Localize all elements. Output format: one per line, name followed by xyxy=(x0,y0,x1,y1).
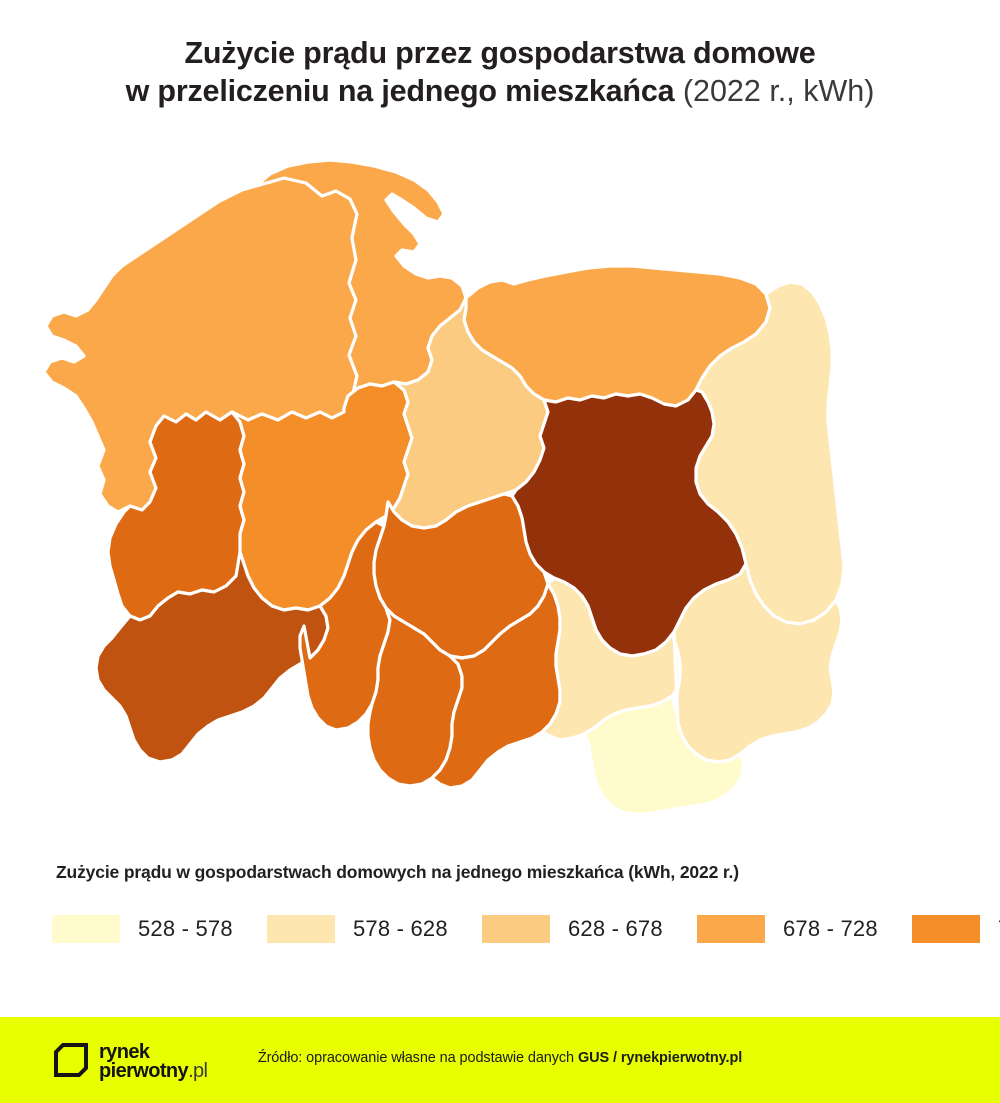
source-prefix-text: Źródło: opracowanie własne na podstawie … xyxy=(258,1050,578,1066)
legend-swatch-icon xyxy=(697,915,765,943)
legend-heading: Zużycie prądu w gospodarstwach domowych … xyxy=(56,862,1000,883)
page-title: Zużycie prądu przez gospodarstwa domowe … xyxy=(0,34,1000,110)
legend-item[interactable]: 628 - 678 xyxy=(482,911,697,947)
choropleth-map-poland xyxy=(0,150,1000,840)
legend-swatch-icon xyxy=(267,915,335,943)
legend-swatch-icon xyxy=(482,915,550,943)
legend-item[interactable]: 728 - 778 xyxy=(912,911,1000,947)
legend-items: 528 - 578 578 - 628 628 - 678 678 - 728 … xyxy=(52,911,942,947)
title-text-line1: Zużycie prądu przez gospodarstwa domowe xyxy=(184,36,815,70)
legend-item[interactable]: 528 - 578 xyxy=(52,911,267,947)
title-text-line2: w przeliczeniu na jednego mieszkańca xyxy=(126,74,675,108)
source-bold-text: GUS / rynekpierwotny.pl xyxy=(578,1050,742,1066)
title-line-1: Zużycie prądu przez gospodarstwa domowe xyxy=(0,34,1000,72)
footer-bar: rynek pierwotny.pl Źródło: opracowanie w… xyxy=(0,1017,1000,1103)
legend-item[interactable]: 578 - 628 xyxy=(267,911,482,947)
legend-item-label: 528 - 578 xyxy=(138,916,233,942)
legend-swatch-icon xyxy=(52,915,120,943)
legend-item-label: 578 - 628 xyxy=(353,916,448,942)
source-attribution: Źródło: opracowanie własne na podstawie … xyxy=(0,1050,1000,1066)
legend-item[interactable]: 678 - 728 xyxy=(697,911,912,947)
title-subtext-year-unit: (2022 r., kWh) xyxy=(674,74,874,108)
title-line-2: w przeliczeniu na jednego mieszkańca (20… xyxy=(0,72,1000,110)
legend-swatch-icon xyxy=(912,915,980,943)
poland-map-svg xyxy=(0,150,1000,840)
legend-item-label: 628 - 678 xyxy=(568,916,663,942)
legend-item-label: 678 - 728 xyxy=(783,916,878,942)
legend: Zużycie prądu w gospodarstwach domowych … xyxy=(0,862,1000,947)
